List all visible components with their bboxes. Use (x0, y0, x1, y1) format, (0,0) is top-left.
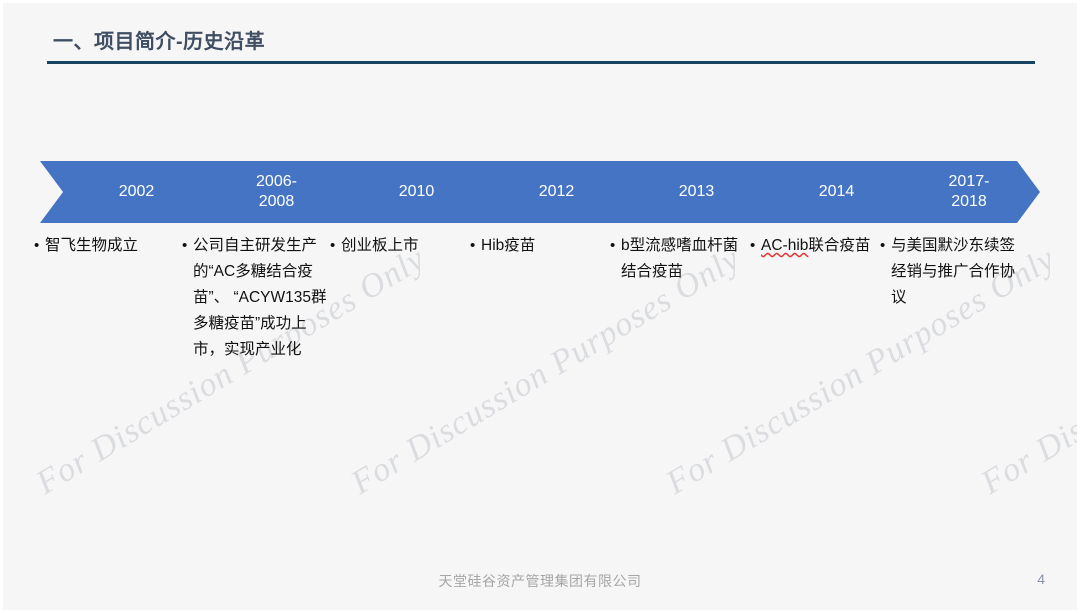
chevron-year-label: 2006-2008 (252, 172, 301, 212)
slide-canvas: For Discussion Purposes OnlyFor Discussi… (0, 0, 1080, 613)
milestone-column-2006-2008: •公司自主研发生产的“AC多糖结合疫苗”、 “ACYW135群多糖疫苗”成功上市… (182, 233, 330, 363)
page-title: 一、项目简介-历史沿革 (53, 29, 265, 55)
bullet-dot-icon: • (750, 233, 761, 259)
bullet-dot-icon: • (610, 233, 621, 259)
milestone-column-2017-2018: •与美国默沙东续签经销与推广合作协议 (880, 233, 1030, 363)
spellcheck-underline: AC-hib (761, 237, 808, 254)
milestone-column-2014: •AC-hib联合疫苗 (750, 233, 880, 363)
milestone-columns: •智飞生物成立•公司自主研发生产的“AC多糖结合疫苗”、 “ACYW135群多糖… (34, 233, 1046, 363)
title-divider-rule (47, 61, 1035, 64)
milestone-bullet-text: 智飞生物成立 (45, 233, 182, 259)
milestone-bullet-text: b型流感嗜血杆菌结合疫苗 (621, 233, 750, 285)
milestone-bullet-text: 与美国默沙东续签经销与推广合作协议 (891, 233, 1030, 311)
slide-footer: 天堂硅谷资产管理集团有限公司 4 (0, 553, 1080, 613)
milestone-bullet: •智飞生物成立 (34, 233, 182, 259)
chevron-year-label: 2012 (535, 182, 579, 202)
bullet-dot-icon: • (470, 233, 481, 259)
milestone-bullet: •创业板上市 (330, 233, 470, 259)
chevron-year-label: 2013 (675, 182, 719, 202)
milestone-column-2010: •创业板上市 (330, 233, 470, 363)
milestone-column-2002: •智飞生物成立 (34, 233, 182, 363)
milestone-bullet-text: 创业板上市 (341, 233, 470, 259)
footer-company-name: 天堂硅谷资产管理集团有限公司 (0, 571, 1080, 591)
timeline-chevron-2002[interactable]: 2002 (40, 161, 215, 223)
chevron-year-label: 2010 (395, 182, 439, 202)
chevron-year-label: 2014 (815, 182, 859, 202)
bullet-dot-icon: • (330, 233, 341, 259)
bullet-dot-icon: • (34, 233, 45, 259)
milestone-bullet: •公司自主研发生产的“AC多糖结合疫苗”、 “ACYW135群多糖疫苗”成功上市… (182, 233, 330, 363)
milestone-bullet-text: AC-hib联合疫苗 (761, 233, 880, 259)
chevron-year-label: 2017-2018 (945, 172, 994, 212)
milestone-bullet: •b型流感嗜血杆菌结合疫苗 (610, 233, 750, 285)
milestone-bullet: •Hib疫苗 (470, 233, 610, 259)
milestone-column-2012: •Hib疫苗 (470, 233, 610, 363)
milestone-bullet: •AC-hib联合疫苗 (750, 233, 880, 259)
bullet-dot-icon: • (880, 233, 891, 259)
page-number: 4 (1037, 571, 1045, 587)
milestone-column-2013: •b型流感嗜血杆菌结合疫苗 (610, 233, 750, 363)
milestone-bullet: •与美国默沙东续签经销与推广合作协议 (880, 233, 1030, 311)
milestone-bullet-text: 公司自主研发生产的“AC多糖结合疫苗”、 “ACYW135群多糖疫苗”成功上市，… (193, 233, 330, 363)
timeline-chevron-row: 20022006-200820102012201320142017-2018 (40, 161, 1040, 223)
bullet-dot-icon: • (182, 233, 193, 259)
milestone-bullet-text: Hib疫苗 (481, 233, 610, 259)
chevron-year-label: 2002 (115, 182, 159, 202)
